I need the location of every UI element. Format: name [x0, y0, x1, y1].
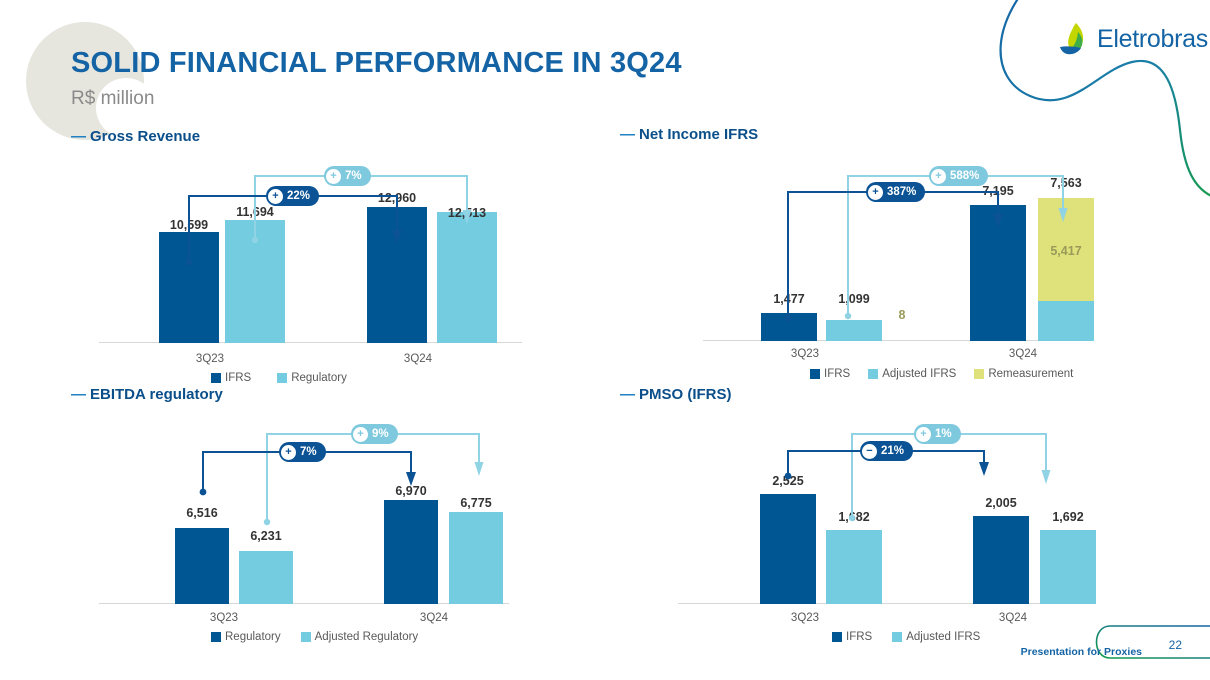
- plot-area-ebitda: +9% +7% 6,516 6,231 6,970 6,775: [99, 414, 549, 604]
- badge-pmso-ifrs: −21%: [860, 441, 913, 461]
- title-dash: —: [620, 386, 635, 403]
- chart-title-net-income: —Net Income IFRS: [620, 126, 1090, 143]
- plot-area-net-income: +588% +387% 1,477 1,099 8 7,195 7,563 5,…: [648, 156, 1098, 341]
- legend-label: IFRS: [225, 372, 251, 384]
- plus-icon: +: [353, 427, 368, 442]
- legend-label: IFRS: [824, 368, 850, 380]
- chart-pmso-ifrs: —PMSO (IFRS) +1% −21% 2: [620, 386, 1090, 651]
- legend-item-adjusted-ifrs: Adjusted IFRS: [892, 631, 980, 643]
- plus-icon: +: [281, 445, 296, 460]
- legend-item-ifrs: IFRS: [810, 368, 850, 380]
- plus-icon: +: [868, 185, 883, 200]
- connector-group: [99, 158, 549, 343]
- x-tick-3q23: 3Q23: [175, 353, 245, 365]
- legend-item-regulatory: Regulatory: [211, 631, 281, 643]
- plus-icon: +: [916, 427, 931, 442]
- legend-swatch-icon: [974, 369, 984, 379]
- plus-icon: +: [931, 169, 946, 184]
- title-dash: —: [620, 126, 635, 143]
- badge-gross-revenue-regulatory: +7%: [324, 166, 371, 186]
- legend-pmso: IFRS Adjusted IFRS: [832, 631, 980, 643]
- legend-label: Adjusted IFRS: [882, 368, 956, 380]
- legend-swatch-icon: [211, 632, 221, 642]
- plot-area-gross-revenue: +7% +22% 10,599 11,694 12,960 12,513: [99, 158, 549, 343]
- badge-ebitda-regulatory: +7%: [279, 442, 326, 462]
- legend-label: Remeasurement: [988, 368, 1073, 380]
- x-tick-3q24: 3Q24: [978, 612, 1048, 624]
- x-tick-3q23: 3Q23: [770, 348, 840, 360]
- badge-pmso-adjusted: +1%: [914, 424, 961, 444]
- chart-title-ebitda: —EBITDA regulatory: [71, 386, 541, 403]
- legend-label: Adjusted IFRS: [906, 631, 980, 643]
- legend-label: Adjusted Regulatory: [315, 631, 419, 643]
- legend-gross-revenue: IFRS Regulatory: [211, 372, 347, 384]
- badge-ebitda-adjusted: +9%: [351, 424, 398, 444]
- x-tick-3q24: 3Q24: [399, 612, 469, 624]
- x-tick-3q24: 3Q24: [383, 353, 453, 365]
- chart-title-pmso: —PMSO (IFRS): [620, 386, 1090, 403]
- eletrobras-logo: Eletrobras: [1058, 22, 1208, 56]
- chart-ebitda-regulatory: —EBITDA regulatory +9% +7%: [71, 386, 541, 651]
- title-dash: —: [71, 128, 86, 145]
- plus-icon: +: [326, 169, 341, 184]
- page-number: 22: [1169, 638, 1182, 652]
- badge-net-income-adjusted: +588%: [929, 166, 988, 186]
- legend-item-adjusted-ifrs: Adjusted IFRS: [868, 368, 956, 380]
- x-tick-3q23: 3Q23: [189, 612, 259, 624]
- page-title: SOLID FINANCIAL PERFORMANCE IN 3Q24: [71, 47, 682, 80]
- legend-swatch-icon: [277, 373, 287, 383]
- legend-swatch-icon: [868, 369, 878, 379]
- slide-canvas: Eletrobras SOLID FINANCIAL PERFORMANCE I…: [0, 0, 1210, 680]
- legend-item-ifrs: IFRS: [211, 372, 251, 384]
- page-subtitle: R$ million: [71, 88, 154, 110]
- legend-item-regulatory: Regulatory: [277, 372, 347, 384]
- chart-net-income-ifrs: —Net Income IFRS +588% +387%: [620, 126, 1090, 391]
- legend-net-income: IFRS Adjusted IFRS Remeasurement: [810, 368, 1073, 380]
- eletrobras-leaf-icon: [1058, 22, 1090, 56]
- legend-swatch-icon: [301, 632, 311, 642]
- legend-swatch-icon: [211, 373, 221, 383]
- plot-area-pmso: +1% −21% 2,525 1,682 2,005 1,692: [648, 414, 1098, 604]
- legend-swatch-icon: [892, 632, 902, 642]
- legend-item-ifrs: IFRS: [832, 631, 872, 643]
- legend-swatch-icon: [832, 632, 842, 642]
- x-tick-3q24: 3Q24: [988, 348, 1058, 360]
- legend-label: Regulatory: [225, 631, 281, 643]
- x-tick-3q23: 3Q23: [770, 612, 840, 624]
- plus-icon: +: [268, 189, 283, 204]
- connector-group: [99, 414, 549, 604]
- footer-label: Presentation for Proxies: [1021, 646, 1142, 658]
- legend-ebitda: Regulatory Adjusted Regulatory: [211, 631, 418, 643]
- chart-gross-revenue: —Gross Revenue +7% +22%: [71, 128, 541, 393]
- legend-swatch-icon: [810, 369, 820, 379]
- legend-label: IFRS: [846, 631, 872, 643]
- badge-net-income-ifrs: +387%: [866, 182, 925, 202]
- logo-wordmark: Eletrobras: [1097, 25, 1208, 54]
- legend-item-adjusted-regulatory: Adjusted Regulatory: [301, 631, 419, 643]
- legend-label: Regulatory: [291, 372, 347, 384]
- minus-icon: −: [862, 444, 877, 459]
- badge-gross-revenue-ifrs: +22%: [266, 186, 319, 206]
- legend-item-remeasurement: Remeasurement: [974, 368, 1073, 380]
- chart-title-gross-revenue: —Gross Revenue: [71, 128, 541, 145]
- title-dash: —: [71, 386, 86, 403]
